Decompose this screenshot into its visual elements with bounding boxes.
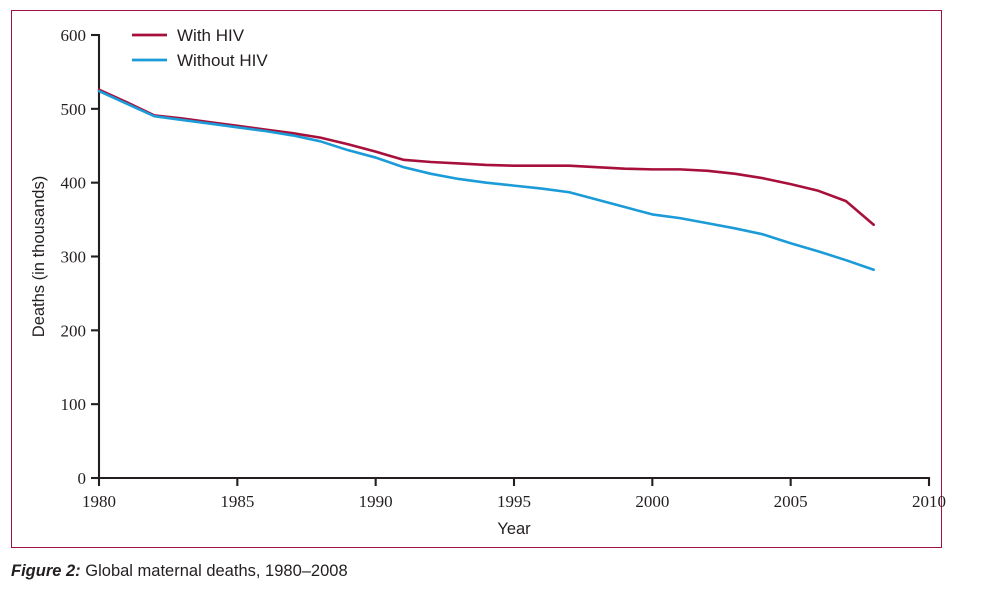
figure-caption-text: Global maternal deaths, 1980–2008 [81, 562, 348, 580]
x-tick-label: 1990 [359, 492, 393, 511]
legend-label-1: With HIV [177, 26, 245, 45]
figure-container: 1980198519901995200020052010010020030040… [0, 0, 985, 602]
y-axis-title: Deaths (in thousands) [30, 176, 48, 337]
chart-canvas: 1980198519901995200020052010010020030040… [0, 0, 985, 602]
x-axis-title: Year [497, 520, 531, 538]
legend-label-2: Without HIV [177, 51, 268, 70]
figure-caption: Figure 2: Global maternal deaths, 1980–2… [11, 562, 348, 581]
x-tick-label: 1980 [82, 492, 116, 511]
y-tick-label: 0 [78, 469, 87, 488]
series-line-1 [99, 90, 874, 225]
y-tick-label: 400 [61, 174, 87, 193]
y-tick-label: 100 [61, 395, 87, 414]
figure-caption-lead: Figure 2: [11, 562, 81, 580]
x-tick-label: 2000 [635, 492, 669, 511]
y-tick-label: 500 [61, 100, 87, 119]
x-tick-label: 1985 [220, 492, 254, 511]
y-tick-label: 300 [61, 248, 87, 267]
y-tick-label: 600 [61, 26, 87, 45]
x-tick-label: 1995 [497, 492, 531, 511]
x-tick-label: 2005 [774, 492, 808, 511]
x-tick-label: 2010 [912, 492, 946, 511]
y-tick-label: 200 [61, 321, 87, 340]
series-line-2 [99, 91, 874, 270]
